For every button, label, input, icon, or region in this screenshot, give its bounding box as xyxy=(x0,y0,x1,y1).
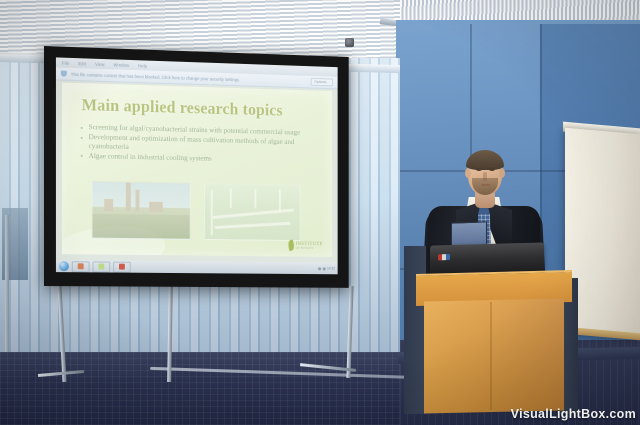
projected-desktop: File Edit View Window Help This file con… xyxy=(56,57,338,274)
slide-title: Main applied research topics xyxy=(82,95,321,121)
ear-left xyxy=(465,168,471,178)
leaf-icon xyxy=(287,240,295,252)
menu-file[interactable]: File xyxy=(62,60,69,65)
slide-bullet-list: Screening for algal/cyanobacterial strai… xyxy=(80,123,319,167)
menu-edit[interactable]: Edit xyxy=(78,61,86,66)
app-icon-2 xyxy=(98,263,104,269)
mouth xyxy=(481,184,490,186)
slide-photo-row xyxy=(92,181,307,239)
podium-seam xyxy=(490,302,492,410)
presentation-slide: Main applied research topics Screening f… xyxy=(62,83,332,257)
projection-screen: File Edit View Window Help This file con… xyxy=(44,46,349,288)
wall-seam-vertical-2 xyxy=(470,24,472,164)
start-button-icon[interactable] xyxy=(59,261,69,271)
sprinkler-head-icon xyxy=(345,38,354,47)
podium-side-shadow-left xyxy=(404,246,426,414)
photo-cultivation-greenhouse xyxy=(204,183,300,241)
system-tray[interactable]: 14:32 xyxy=(318,266,335,270)
laptop-logo-icon xyxy=(438,254,450,260)
taskbar-app-1[interactable] xyxy=(72,261,90,272)
app-icon-3 xyxy=(119,264,125,270)
photo-industrial-plant xyxy=(92,181,191,240)
taskbar-app-2[interactable] xyxy=(93,261,111,272)
menu-help[interactable]: Help xyxy=(138,63,147,68)
menu-window[interactable]: Window xyxy=(114,62,130,67)
presenter-laptop[interactable] xyxy=(430,242,544,274)
tray-clock[interactable]: 14:32 xyxy=(327,266,335,270)
eyebrow-left xyxy=(475,165,482,167)
eyebrow-right xyxy=(489,165,496,167)
windows-taskbar[interactable]: 14:32 xyxy=(56,260,338,274)
menu-view[interactable]: View xyxy=(95,61,105,66)
eye-right xyxy=(489,168,495,171)
ear-right xyxy=(499,168,505,178)
eye-left xyxy=(476,168,482,171)
slide-institute-logo: INSTITUTE OF BOTANY xyxy=(288,240,323,251)
logo-line-2: OF BOTANY xyxy=(296,246,323,249)
info-bar-options-button[interactable]: Options... xyxy=(311,78,334,86)
tray-icon-2[interactable] xyxy=(322,267,325,270)
shield-icon xyxy=(61,71,67,77)
watermark: VisualLightBox.com xyxy=(511,407,636,421)
podium-shading xyxy=(424,299,564,414)
hair xyxy=(466,150,504,170)
app-icon-1 xyxy=(78,263,84,269)
tray-icon-1[interactable] xyxy=(318,267,321,270)
taskbar-app-3[interactable] xyxy=(113,261,131,272)
blinds-wand[interactable] xyxy=(5,215,9,370)
conference-presentation-photo: File Edit View Window Help This file con… xyxy=(0,0,640,425)
